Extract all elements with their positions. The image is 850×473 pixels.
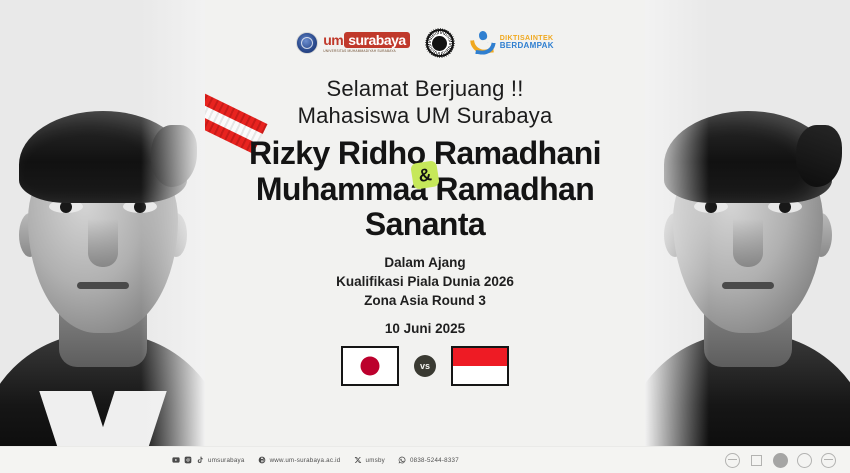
footer-bar: umsurabaya www.um-surabaya.ac.id umsby 0… <box>0 446 850 473</box>
greeting-line-1: Selamat Berjuang !! <box>326 76 523 103</box>
partner-logo-1-icon <box>725 453 740 468</box>
match-flags: vs <box>341 346 509 386</box>
athlete-name-second-line2: Sananta <box>249 207 601 242</box>
event-info: Dalam Ajang Kualifikasi Piala Dunia 2026… <box>336 254 514 310</box>
athlete-names-block: Rizky Ridho Ramadhani & Muhammaa Ramadha… <box>249 136 601 242</box>
social-handle-text: umsurabaya <box>208 457 245 464</box>
japan-flag-icon <box>341 346 399 386</box>
versus-badge: vs <box>414 355 436 377</box>
indonesia-flag-icon <box>451 346 509 386</box>
youtube-icon[interactable] <box>172 456 180 464</box>
um-logo-prefix: um <box>323 33 343 47</box>
muhammadiyah-logo-icon <box>426 29 454 57</box>
ampersand-badge: & <box>410 160 440 190</box>
event-line-3: Zona Asia Round 3 <box>336 292 514 311</box>
diktisaintek-mark-icon <box>470 30 496 56</box>
partner-logo-5-icon <box>821 453 836 468</box>
x-twitter-icon[interactable] <box>354 456 362 464</box>
whatsapp-icon[interactable] <box>398 456 406 464</box>
website-text: www.um-surabaya.ac.id <box>270 457 341 464</box>
twitter-handle-text: umsby <box>366 457 385 464</box>
footer-social-group[interactable]: umsurabaya <box>172 456 245 464</box>
poster-canvas: um surabaya UNIVERSITAS MUHAMMADIYAH SUR… <box>0 0 850 473</box>
event-line-1: Dalam Ajang <box>336 254 514 273</box>
partner-logos <box>725 453 836 468</box>
um-logo-subtitle: UNIVERSITAS MUHAMMADIYAH SURABAYA <box>323 50 396 53</box>
diktisaintek-logo: DIKTISAINTEK BERDAMPAK <box>470 30 554 56</box>
diktisaintek-line2: BERDAMPAK <box>500 42 554 50</box>
poster-center-content: um surabaya UNIVERSITAS MUHAMMADIYAH SUR… <box>205 0 645 473</box>
partner-logo-3-icon <box>773 453 788 468</box>
tiktok-icon[interactable] <box>196 456 204 464</box>
greeting-line-2: Mahasiswa UM Surabaya <box>298 103 553 130</box>
phone-text: 0838-5244-8337 <box>410 457 459 464</box>
footer-phone-group[interactable]: 0838-5244-8337 <box>398 456 459 464</box>
partner-logo-4-icon <box>797 453 812 468</box>
partner-logo-2-icon <box>749 453 764 468</box>
portrait-right-ramadhan-sananta <box>645 0 850 473</box>
um-surabaya-logo: um surabaya UNIVERSITAS MUHAMMADIYAH SUR… <box>296 32 409 54</box>
portrait-left-rizky-ridho <box>0 0 205 473</box>
logo-strip: um surabaya UNIVERSITAS MUHAMMADIYAH SUR… <box>296 26 554 60</box>
instagram-icon[interactable] <box>184 456 192 464</box>
globe-icon <box>258 456 266 464</box>
event-line-2: Kualifikasi Piala Dunia 2026 <box>336 273 514 292</box>
um-logo-highlight: surabaya <box>344 32 409 48</box>
footer-website-group[interactable]: www.um-surabaya.ac.id <box>258 456 341 464</box>
event-date: 10 Juni 2025 <box>385 321 465 336</box>
footer-twitter-group[interactable]: umsby <box>354 456 385 464</box>
um-seal-icon <box>296 32 318 54</box>
